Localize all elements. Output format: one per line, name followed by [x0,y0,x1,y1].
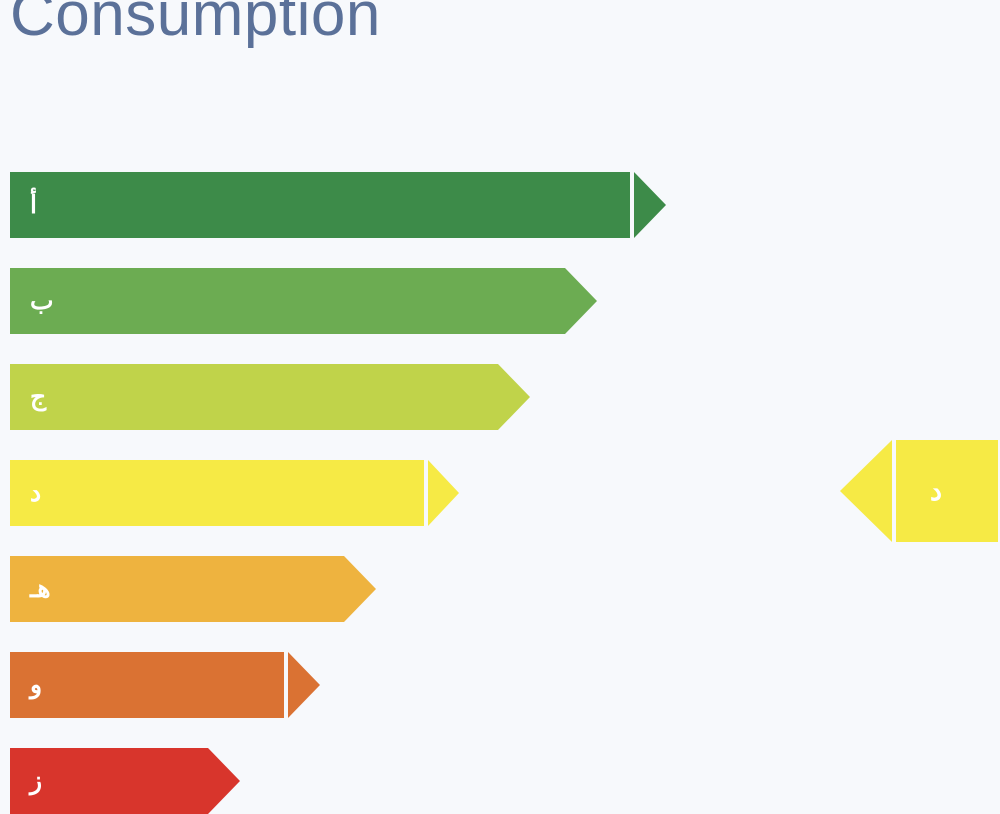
bar-label: ب [30,268,54,334]
bar-label: د [30,460,41,526]
bar-body [10,364,498,430]
bar-arrow-icon [498,364,530,430]
rating-bar-2[interactable]: ب [10,268,601,334]
bar-body [10,172,630,238]
rating-bar-6[interactable]: و [10,652,320,718]
bar-body [10,460,424,526]
bar-body [10,556,344,622]
rating-bar-5[interactable]: هـ [10,556,380,622]
bar-label: و [30,652,42,718]
bar-label: أ [30,172,37,238]
energy-rating-chart: Consumption أبجدهـوز د [0,0,1000,792]
bar-label: هـ [30,556,51,622]
rating-bar-1[interactable]: أ [10,172,666,238]
bar-body [10,652,284,718]
current-rating-marker[interactable]: د [840,440,998,542]
marker-label: د [896,440,976,542]
marker-arrow-icon [840,440,892,542]
bar-arrow-icon [565,268,597,334]
bar-body [10,268,565,334]
rating-bar-7[interactable]: ز [10,748,244,814]
bar-arrow-icon [428,460,459,526]
bar-label: ج [30,364,46,430]
bar-arrow-icon [288,652,320,718]
bar-arrow-icon [344,556,376,622]
rating-bar-3[interactable]: ج [10,364,534,430]
rating-bars-container: أبجدهـوز [0,0,1000,792]
bar-label: ز [30,748,42,814]
rating-bar-4[interactable]: د [10,460,459,526]
bar-arrow-icon [634,172,666,238]
bar-arrow-icon [208,748,240,814]
